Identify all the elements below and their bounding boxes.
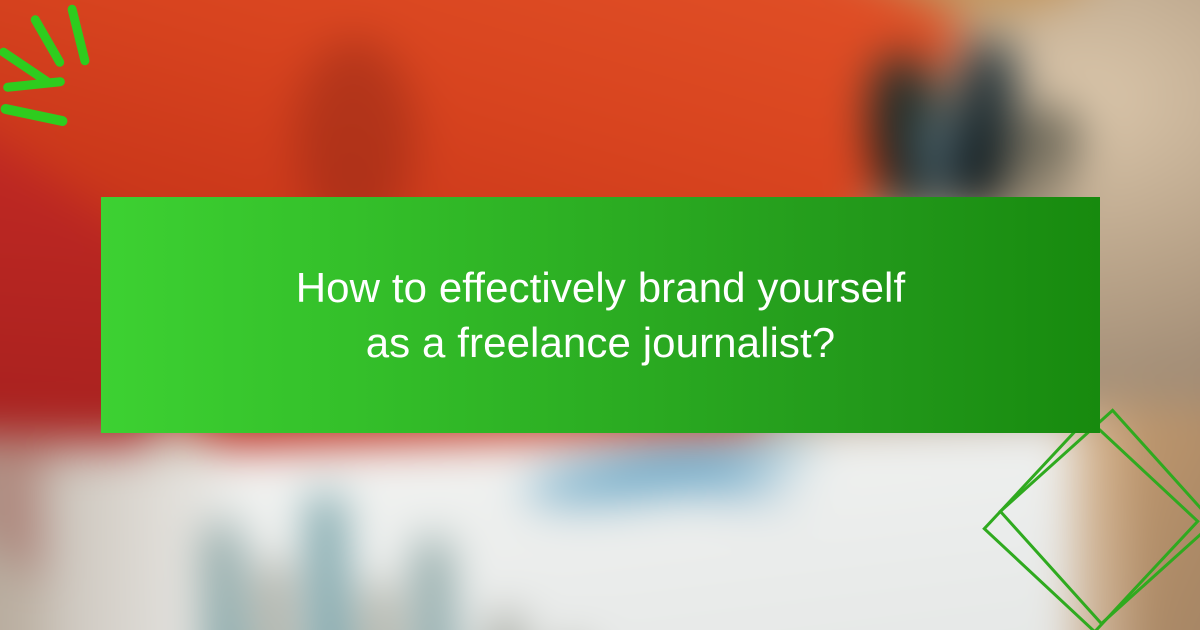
banner-title: How to effectively brand yourself as a f… [271, 260, 931, 370]
paper-left-shadow [0, 435, 230, 630]
chart-bar [493, 615, 522, 630]
wood-strip-right [1075, 405, 1200, 630]
title-banner: How to effectively brand yourself as a f… [101, 197, 1100, 433]
social-card-canvas: How to effectively brand yourself as a f… [0, 0, 1200, 630]
